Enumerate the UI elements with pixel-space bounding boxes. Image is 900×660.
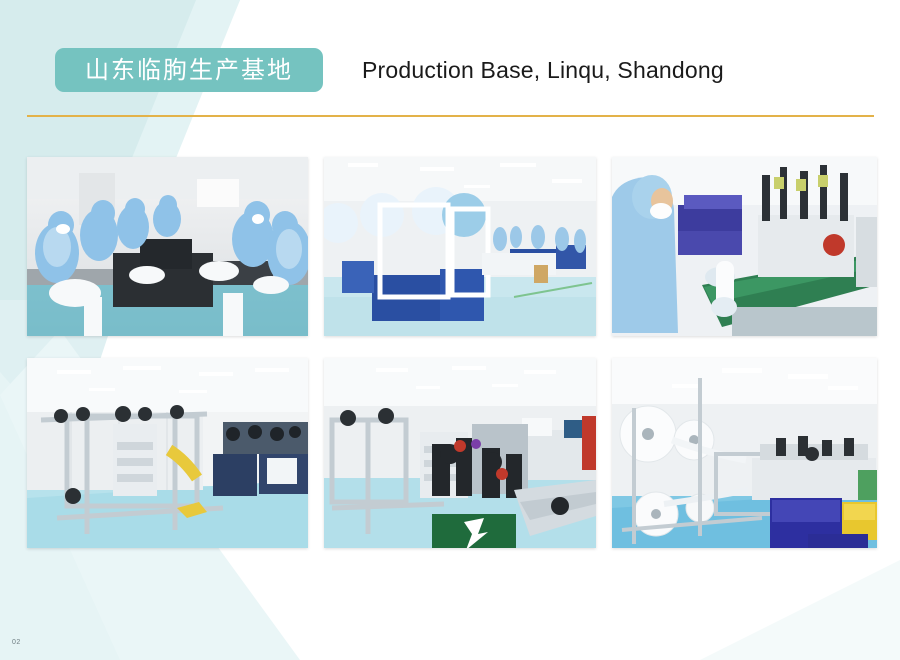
section-badge-label: 山东临朐生产基地 xyxy=(85,58,293,82)
photo-tile-2[interactable] xyxy=(324,157,596,336)
page-number: 02 xyxy=(12,639,21,646)
photo-tile-6[interactable] xyxy=(612,358,877,548)
photo-tile-1[interactable] xyxy=(27,157,308,336)
photo-grid xyxy=(27,157,876,548)
photo-tile-4[interactable] xyxy=(27,358,308,548)
slide-page: 山东临朐生产基地 Production Base, Linqu, Shandon… xyxy=(0,0,900,660)
page-header: 山东临朐生产基地 Production Base, Linqu, Shandon… xyxy=(0,0,900,130)
photo-tile-3[interactable] xyxy=(612,157,877,336)
photo-tile-5[interactable] xyxy=(324,358,596,548)
header-divider xyxy=(27,115,874,117)
section-badge: 山东临朐生产基地 xyxy=(55,48,323,92)
page-title: Production Base, Linqu, Shandong xyxy=(362,53,724,87)
